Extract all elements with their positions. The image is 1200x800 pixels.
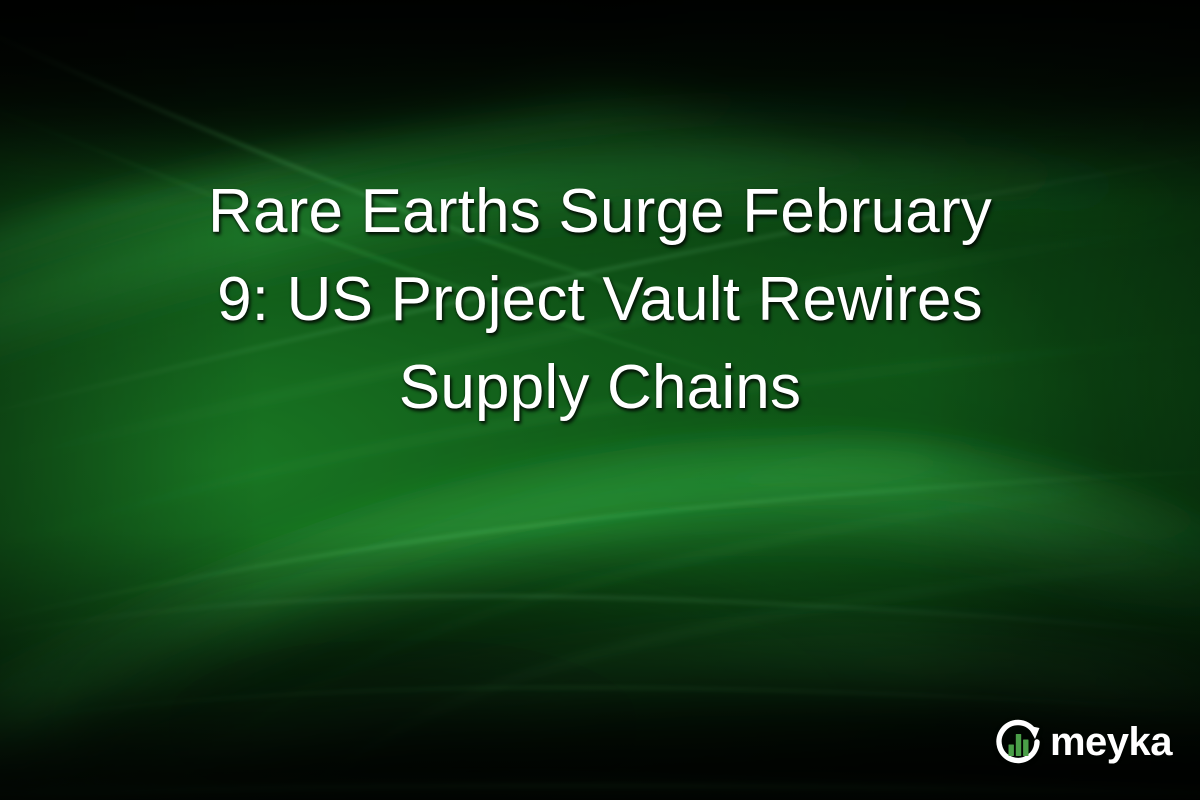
headline-block: Rare Earths Surge February 9: US Project… <box>60 168 1140 432</box>
brand-wordmark: meyka <box>1050 722 1172 762</box>
circular-arrow-bar-chart-icon <box>992 716 1044 768</box>
brand-logo[interactable]: meyka <box>992 716 1172 768</box>
headline-text: Rare Earths Surge February 9: US Project… <box>60 168 1140 432</box>
banner: Rare Earths Surge February 9: US Project… <box>0 0 1200 800</box>
